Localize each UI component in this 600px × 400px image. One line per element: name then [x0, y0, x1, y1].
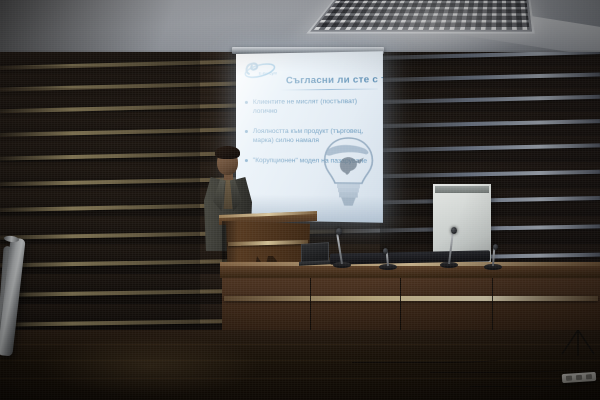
gooseneck-microphone — [440, 228, 458, 268]
gooseneck-microphone — [333, 228, 351, 268]
presenter-hair — [215, 146, 240, 159]
microphone-head — [493, 244, 498, 250]
microphone-head — [451, 227, 457, 234]
floor-light-reflection — [40, 336, 260, 396]
microphone-head — [336, 228, 342, 235]
svg-text:Е-Консулт: Е-Консулт — [259, 70, 277, 75]
microphone-neck — [448, 233, 453, 264]
desk-trim — [224, 296, 598, 301]
blue-swirl-logo: Е-Консулт — [243, 59, 277, 82]
slide-bullet: Клиентите не мислят (постъпват) логично — [244, 97, 377, 116]
slide-title-rule — [280, 88, 378, 90]
photo-scene: Е-Консулт Съгласни ли сте с това? Клиент… — [0, 0, 600, 400]
flipchart-clip — [435, 186, 489, 193]
recessed-ceiling-light — [306, 0, 534, 34]
power-strip-socket — [566, 375, 572, 380]
tripod-stand — [556, 330, 600, 356]
power-strip-socket — [586, 374, 592, 379]
slide-title: Съгласни ли сте с това? — [286, 74, 379, 86]
floor-cables — [430, 364, 570, 373]
light-louvre-grille — [314, 0, 530, 30]
wall-left-shadow — [0, 52, 200, 352]
floor-cables — [352, 352, 502, 363]
microphone-neck — [336, 234, 342, 264]
microphone-neck — [386, 252, 389, 266]
lightbulb-graphic — [319, 134, 379, 210]
gooseneck-microphone — [379, 248, 397, 270]
power-strip-socket — [576, 375, 582, 380]
microphone-head — [383, 248, 388, 254]
gooseneck-microphone — [484, 244, 502, 270]
